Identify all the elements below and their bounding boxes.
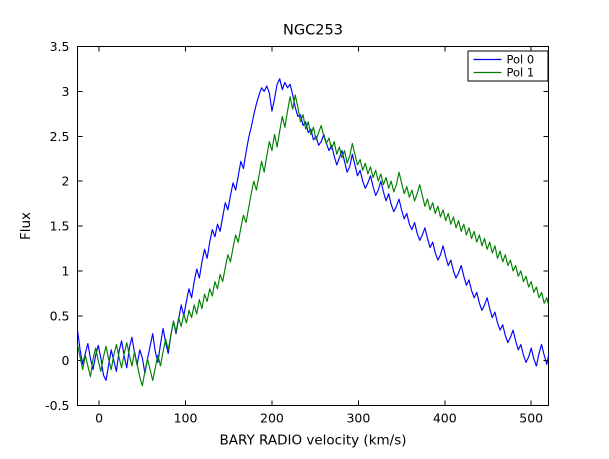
figure-canvas: 0100200300400500-0.500.511.522.533.5NGC2… (0, 0, 609, 459)
axis-ticks (78, 47, 549, 406)
data-series (78, 79, 609, 386)
legend[interactable]: Pol 0Pol 1 (468, 51, 548, 81)
y-tick-label: 1 (62, 263, 70, 278)
axes-frame (78, 47, 549, 406)
chart-title: NGC253 (283, 23, 343, 39)
y-tick-label: 3 (62, 84, 70, 99)
y-tick-label: -0.5 (45, 398, 69, 413)
y-axis-label: Flux (18, 212, 34, 240)
y-tick-label: 2.5 (50, 129, 70, 144)
series-line-pol-0 (78, 79, 609, 381)
x-tick-label: 200 (260, 411, 284, 426)
x-tick-label: 400 (433, 411, 457, 426)
y-tick-label: 0.5 (50, 308, 70, 323)
legend-label-pol-1: Pol 1 (507, 66, 535, 80)
x-tick-label: 0 (95, 411, 103, 426)
y-tick-label: 2 (62, 174, 70, 189)
y-tick-label: 3.5 (50, 39, 70, 54)
x-tick-label: 100 (174, 411, 198, 426)
plot-area: 0100200300400500-0.500.511.522.533.5NGC2… (0, 0, 609, 459)
y-tick-label: 1.5 (50, 219, 70, 234)
y-tick-label: 0 (62, 353, 70, 368)
legend-label-pol-0: Pol 0 (507, 53, 535, 67)
x-tick-label: 500 (519, 411, 543, 426)
x-axis-label: BARY RADIO velocity (km/s) (219, 433, 406, 449)
series-line-pol-1 (78, 95, 609, 386)
x-tick-label: 300 (346, 411, 370, 426)
axis-labels: 0100200300400500-0.500.511.522.533.5NGC2… (18, 23, 543, 449)
